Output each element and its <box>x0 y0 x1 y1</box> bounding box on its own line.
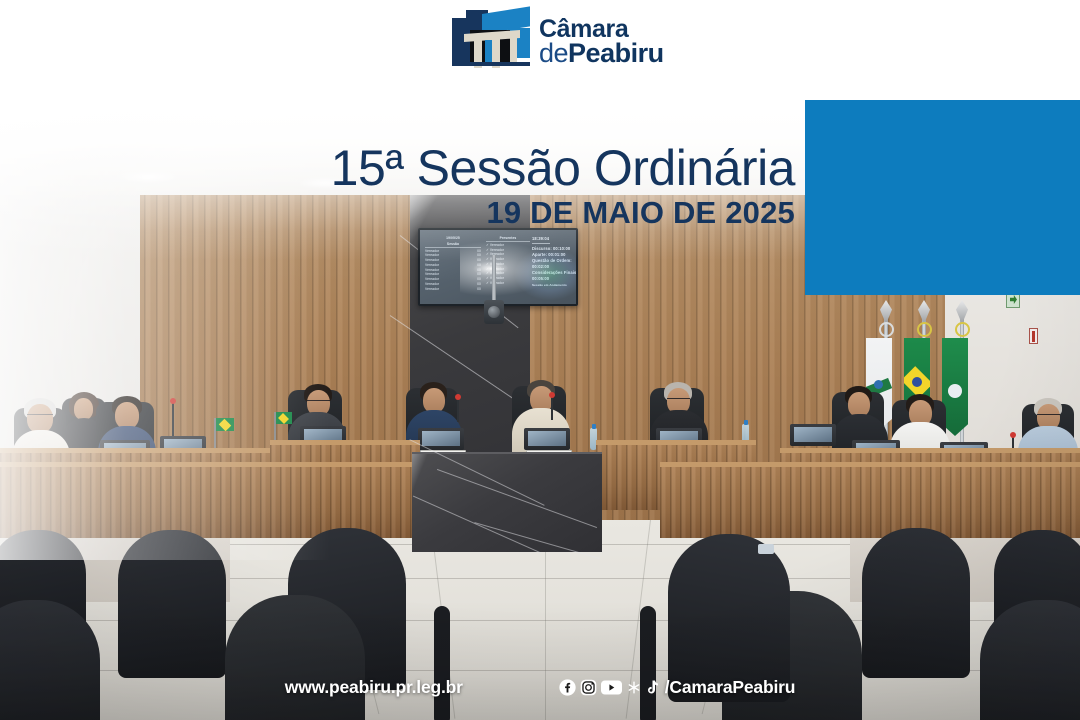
social-handle[interactable]: /CamaraPeabiru <box>665 677 795 698</box>
display-date: 19/05/25 <box>425 236 481 241</box>
tiktok-icon[interactable] <box>646 679 659 696</box>
display-header-right: Presentes <box>486 236 530 242</box>
logo-word-de: de <box>539 38 568 68</box>
building-logo-icon <box>452 10 530 72</box>
council-desk-left-front <box>0 462 415 538</box>
session-date: 19 DE MAIO DE 2025 <box>0 197 795 228</box>
chair-armrest <box>434 606 450 720</box>
granite-podium <box>412 452 602 552</box>
microphone-capsule <box>488 306 500 318</box>
facebook-icon[interactable] <box>559 679 576 696</box>
audience-chair <box>862 528 970 678</box>
instagram-icon[interactable] <box>580 679 597 696</box>
logo-word-peabiru: Peabiru <box>568 38 664 68</box>
laptop <box>524 428 570 450</box>
desk-microphone <box>551 396 553 420</box>
flag-disc <box>879 322 894 337</box>
audience-chair <box>118 530 226 678</box>
audience-chair <box>225 595 365 720</box>
website-url[interactable]: www.peabiru.pr.leg.br <box>285 677 463 698</box>
page-title: 15ª Sessão Ordinária <box>0 143 795 193</box>
x-twitter-icon[interactable] <box>626 679 642 696</box>
youtube-icon[interactable] <box>601 679 622 696</box>
council-desk-right-front <box>660 462 1080 538</box>
display-clock: 18:39:04 <box>532 236 578 242</box>
laptop <box>790 424 836 446</box>
fire-alarm-sign <box>1029 328 1038 344</box>
footer-bar: www.peabiru.pr.leg.br /CamaraPeabiru <box>0 677 1080 698</box>
session-timer-display: 19/05/25 Sessão Vereador00 Vereador00 Ve… <box>418 228 578 306</box>
flag-disc <box>917 322 932 337</box>
blue-accent-block <box>805 100 1080 295</box>
session-announcement-poster: 19/05/25 Sessão Vereador00 Vereador00 Ve… <box>0 0 1080 720</box>
display-header-left: Sessão <box>425 242 481 248</box>
camara-de-peabiru-logo: Câmara dePeabiru <box>452 10 664 72</box>
timer-row: Considerações Finais: 00:05:00 <box>532 270 578 282</box>
timer-row: Questão de Ordem: 00:02:00 <box>532 258 578 270</box>
flag-disc <box>955 322 970 337</box>
chair-armrest <box>640 606 656 720</box>
display-status: Sessão em Andamento <box>532 283 578 287</box>
desk-microphone <box>457 398 459 422</box>
social-links: /CamaraPeabiru <box>559 677 795 698</box>
